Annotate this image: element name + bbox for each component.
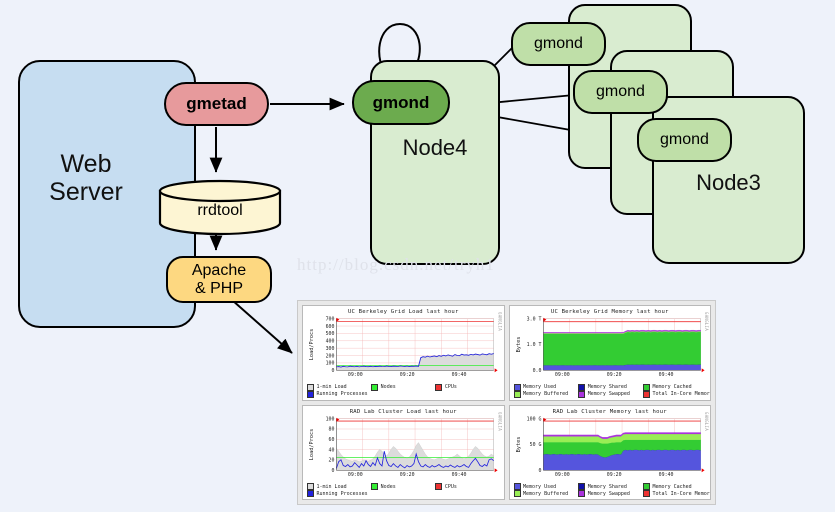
svg-text:Load/Procs: Load/Procs <box>309 428 315 460</box>
legend-label: Total In-Core Memory <box>653 391 711 397</box>
chart-watermark-3: GANGLIA <box>704 412 709 431</box>
legend-swatch-icon <box>514 384 521 391</box>
gmond-node-node4[interactable]: gmond <box>352 80 450 125</box>
legend-item: Memory Buffered <box>514 490 579 497</box>
legend-label: Memory Swapped <box>588 391 630 397</box>
legend-label: Nodes <box>381 384 396 390</box>
legend-swatch-icon <box>514 483 521 490</box>
svg-text:1.0 T: 1.0 T <box>526 342 541 348</box>
legend-item: Memory Swapped <box>578 490 643 497</box>
svg-text:09:00: 09:00 <box>348 372 363 378</box>
legend-item: Nodes <box>371 384 435 391</box>
svg-text:0: 0 <box>538 468 541 474</box>
legend-swatch-icon <box>578 483 585 490</box>
svg-text:400: 400 <box>326 339 335 345</box>
svg-text:20: 20 <box>329 457 335 463</box>
legend-item: Memory Cached <box>643 483 708 490</box>
legend-item: Memory Buffered <box>514 391 579 398</box>
ganglia-charts-panel: UC Berkeley Grid Load last hour 01002003… <box>297 300 716 505</box>
rrdtool-node[interactable]: rrdtool <box>158 178 282 236</box>
gmond-label-node3: gmond <box>660 131 709 149</box>
node-box-node4-label: Node4 <box>370 135 500 161</box>
legend-item: CPUs <box>435 384 499 391</box>
svg-text:80: 80 <box>329 426 335 432</box>
legend-label: Running Processes <box>317 491 368 497</box>
svg-text:Bytes: Bytes <box>515 436 521 452</box>
svg-text:40: 40 <box>329 447 335 453</box>
web-server-label: Web Server <box>30 150 142 206</box>
legend-label: Memory Buffered <box>523 491 568 497</box>
legend-swatch-icon <box>643 391 650 398</box>
legend-label: Running Processes <box>317 391 368 397</box>
legend-label: Memory Used <box>523 484 556 490</box>
legend-swatch-icon <box>307 384 314 391</box>
svg-text:100: 100 <box>326 361 335 367</box>
legend-swatch-icon <box>435 483 442 490</box>
legend-item: Nodes <box>371 483 435 490</box>
svg-text:09:40: 09:40 <box>658 372 673 378</box>
gmond-node-node3[interactable]: gmond <box>637 118 732 162</box>
svg-text:200: 200 <box>326 353 335 359</box>
legend-swatch-icon <box>643 490 650 497</box>
svg-text:0.0: 0.0 <box>532 368 541 374</box>
svg-text:09:40: 09:40 <box>452 372 467 378</box>
chart-card-1[interactable]: UC Berkeley Grid Memory last hour 0.01.0… <box>509 305 712 401</box>
diagram-canvas: Web Server gmetad rrdtool Apache & PHP N… <box>0 0 835 512</box>
legend-item: Total In-Core Memory <box>643 490 708 497</box>
gmetad-label: gmetad <box>186 94 246 114</box>
svg-text:09:00: 09:00 <box>348 472 363 478</box>
legend-item: Total In-Core Memory <box>643 391 708 398</box>
legend-swatch-icon <box>371 483 378 490</box>
legend-label: Memory Shared <box>588 484 627 490</box>
legend-item: Memory Cached <box>643 384 708 391</box>
svg-text:300: 300 <box>326 346 335 352</box>
legend-label: Memory Swapped <box>588 491 630 497</box>
legend-label: Memory Buffered <box>523 391 568 397</box>
svg-text:09:40: 09:40 <box>452 472 467 478</box>
legend-label: Memory Used <box>523 384 556 390</box>
svg-text:09:20: 09:20 <box>400 372 415 378</box>
svg-text:100: 100 <box>326 416 335 422</box>
chart-card-2[interactable]: RAD Lab Cluster Load last hour 020406080… <box>302 405 505 501</box>
chart-card-0[interactable]: UC Berkeley Grid Load last hour 01002003… <box>302 305 505 401</box>
legend-swatch-icon <box>514 490 521 497</box>
web-server-label-line1: Web <box>30 150 142 178</box>
legend-label: CPUs <box>445 384 457 390</box>
web-server-label-line2: Server <box>30 178 142 206</box>
legend-swatch-icon <box>643 483 650 490</box>
chart-card-3[interactable]: RAD Lab Cluster Memory last hour 050 G10… <box>509 405 712 501</box>
legend-item: 1-min Load <box>307 483 371 490</box>
svg-text:09:00: 09:00 <box>554 472 569 478</box>
legend-label: 1-min Load <box>317 384 347 390</box>
gmond-node-2[interactable]: gmond <box>511 22 606 66</box>
legend-swatch-icon <box>435 384 442 391</box>
chart-legend-3: Memory UsedMemory SharedMemory CachedMem… <box>514 483 709 497</box>
gmond-node-3[interactable]: gmond <box>573 70 668 114</box>
legend-item: 1-min Load <box>307 384 371 391</box>
apache-label-line1: Apache <box>192 262 246 279</box>
chart-legend-0: 1-min LoadNodesCPUsRunning Processes <box>307 384 502 398</box>
legend-label: Memory Cached <box>653 384 692 390</box>
legend-label: Nodes <box>381 484 396 490</box>
legend-swatch-icon <box>643 384 650 391</box>
apache-label-line2: & PHP <box>195 280 243 297</box>
legend-item: CPUs <box>435 483 499 490</box>
rrdtool-label: rrdtool <box>158 178 282 236</box>
svg-text:09:20: 09:20 <box>400 472 415 478</box>
gmetad-node[interactable]: gmetad <box>164 82 269 126</box>
gmond-label-2: gmond <box>534 35 583 53</box>
svg-text:09:20: 09:20 <box>606 472 621 478</box>
svg-text:50 G: 50 G <box>529 442 541 448</box>
legend-swatch-icon <box>578 384 585 391</box>
svg-text:Bytes: Bytes <box>515 337 521 353</box>
legend-swatch-icon <box>578 391 585 398</box>
svg-text:09:40: 09:40 <box>658 472 673 478</box>
legend-item: Memory Used <box>514 483 579 490</box>
legend-item: Memory Shared <box>578 384 643 391</box>
svg-text:600: 600 <box>326 324 335 330</box>
chart-legend-1: Memory UsedMemory SharedMemory CachedMem… <box>514 384 709 398</box>
node-box-node3-label: Node3 <box>652 170 805 196</box>
legend-swatch-icon <box>307 391 314 398</box>
chart-watermark-2: GANGLIA <box>498 412 503 431</box>
legend-label: 1-min Load <box>317 484 347 490</box>
legend-swatch-icon <box>371 384 378 391</box>
svg-text:3.0 T: 3.0 T <box>526 316 541 322</box>
svg-text:0: 0 <box>332 468 335 474</box>
svg-text:0: 0 <box>332 368 335 374</box>
chart-watermark-1: GANGLIA <box>704 312 709 331</box>
apache-php-node[interactable]: Apache & PHP <box>166 256 272 303</box>
legend-item: Running Processes <box>307 490 371 497</box>
svg-text:500: 500 <box>326 331 335 337</box>
legend-item: Memory Swapped <box>578 391 643 398</box>
legend-swatch-icon <box>307 483 314 490</box>
watermark-text: http://blog.csdn.net/tryh1 <box>297 255 495 275</box>
chart-legend-2: 1-min LoadNodesCPUsRunning Processes <box>307 483 502 497</box>
edge-apache-to-charts <box>232 300 292 353</box>
legend-label: Total In-Core Memory <box>653 491 711 497</box>
gmond-label-3: gmond <box>596 83 645 101</box>
legend-item: Running Processes <box>307 391 371 398</box>
gmond-label-node4: gmond <box>373 93 430 113</box>
legend-swatch-icon <box>307 490 314 497</box>
svg-text:100 G: 100 G <box>526 416 541 422</box>
legend-label: Memory Cached <box>653 484 692 490</box>
svg-text:Load/Procs: Load/Procs <box>309 329 315 361</box>
legend-item: Memory Shared <box>578 483 643 490</box>
legend-label: Memory Shared <box>588 384 627 390</box>
legend-swatch-icon <box>578 490 585 497</box>
legend-label: CPUs <box>445 484 457 490</box>
svg-text:09:20: 09:20 <box>606 372 621 378</box>
chart-watermark-0: GANGLIA <box>498 312 503 331</box>
svg-text:700: 700 <box>326 316 335 322</box>
svg-text:09:00: 09:00 <box>554 372 569 378</box>
legend-swatch-icon <box>514 391 521 398</box>
svg-text:60: 60 <box>329 437 335 443</box>
legend-item: Memory Used <box>514 384 579 391</box>
